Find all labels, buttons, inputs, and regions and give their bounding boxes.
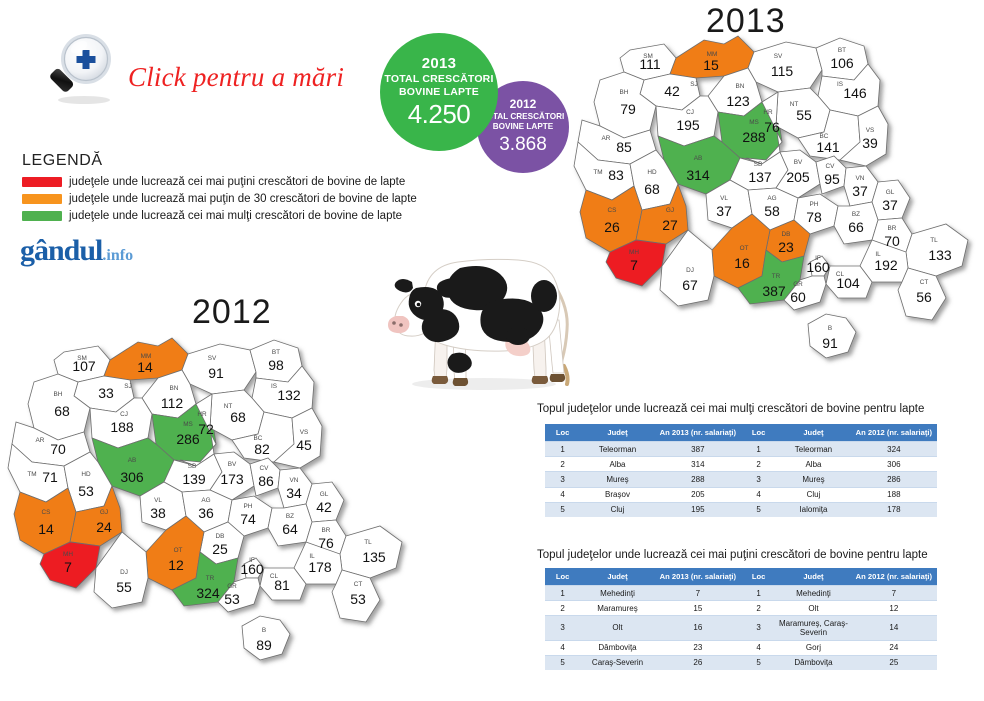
county-code-cj: CJ (686, 109, 694, 116)
cell-4-3: 5 (741, 502, 776, 517)
county-code-ab: AB (128, 457, 137, 464)
county-value-sm: 107 (72, 358, 96, 374)
county-code-cs: CS (608, 207, 617, 214)
county-code-sb: SB (188, 463, 197, 470)
county-value-ar: 85 (616, 139, 632, 155)
cell-4-2: 195 (655, 502, 741, 517)
logo-wordmark: gândul (20, 234, 102, 267)
county-code-tr: TR (772, 273, 781, 280)
county-value-if: 160 (240, 561, 264, 577)
col-header-1: Judeţ (580, 424, 654, 442)
county-code-cv: CV (260, 465, 270, 472)
county-value-vl: 38 (150, 505, 166, 521)
cell-2-4: Maramureş, Caraş-Severin (776, 616, 850, 640)
cell-3-1: Dâmboviţa (580, 640, 654, 655)
cell-3-5: 24 (851, 640, 937, 655)
legend-swatch-orange (22, 194, 62, 204)
cell-1-0: 2 (545, 457, 580, 472)
county-value-bn: 112 (161, 395, 184, 411)
cell-4-2: 26 (655, 655, 741, 670)
cell-0-5: 7 (851, 586, 937, 601)
county-code-bt: BT (838, 47, 846, 54)
col-header-0: Loc (545, 424, 580, 442)
county-code-bz: BZ (852, 211, 860, 218)
cell-1-3: 2 (741, 601, 776, 616)
cell-0-4: Mehedinţi (776, 586, 850, 601)
county-value-db: 23 (778, 239, 794, 255)
county-value-nt: 55 (796, 107, 812, 123)
county-code-vn: VN (290, 477, 299, 484)
county-code-br: BR (322, 527, 331, 534)
county-value-gr: 53 (224, 591, 240, 607)
county-value-is: 146 (843, 85, 867, 101)
total-bubble-2013: 2013 TOTAL CRESCĂTORI BOVINE LAPTE 4.250 (380, 33, 498, 151)
county-value-dj: 67 (682, 277, 698, 293)
county-value-mm: 15 (703, 57, 719, 73)
table-row: 1Teleorman3871Teleorman324 (545, 442, 937, 457)
legend-swatch-green (22, 211, 62, 221)
county-code-dj: DJ (686, 267, 694, 274)
bubble-2013-line2: BOVINE LAPTE (399, 86, 479, 99)
cell-4-3: 5 (741, 655, 776, 670)
county-value-gl: 37 (882, 197, 898, 213)
county-code-bh: BH (54, 391, 63, 398)
cell-2-1: Mureş (580, 472, 654, 487)
cell-2-2: 16 (655, 616, 741, 640)
county-value-cs: 26 (604, 219, 620, 235)
county-value-ot: 16 (734, 255, 750, 271)
legend-item-fewest: judeţele unde lucrează cei mai puţini cr… (22, 174, 442, 190)
logo-suffix: .info (102, 247, 133, 264)
county-value-b: 91 (822, 335, 838, 351)
county-code-tl: TL (364, 539, 372, 546)
col-header-3: Loc (741, 568, 776, 586)
table-row: 4Braşov2054Cluj188 (545, 487, 937, 502)
county-value-gl: 42 (316, 499, 332, 515)
county-value-bh: 79 (620, 101, 636, 117)
cell-3-0: 4 (545, 487, 580, 502)
cell-2-3: 3 (741, 472, 776, 487)
col-header-4: Judeţ (776, 568, 850, 586)
county-value-hr: 72 (198, 421, 214, 437)
cell-3-0: 4 (545, 640, 580, 655)
cell-1-1: Alba (580, 457, 654, 472)
table-header-row: LocJudeţAn 2013 (nr. salariaţi)LocJudeţA… (545, 568, 937, 586)
county-value-gj: 27 (662, 217, 678, 233)
county-value-gj: 24 (96, 519, 112, 535)
cell-0-2: 387 (655, 442, 741, 457)
bubble-2012-value: 3.868 (499, 134, 547, 156)
county-value-dj: 55 (116, 579, 132, 595)
county-code-ag: AG (201, 497, 210, 504)
county-value-mh: 7 (630, 257, 638, 273)
county-code-ms: MS (749, 119, 759, 126)
county-value-ph: 74 (240, 511, 256, 527)
cell-3-4: Cluj (776, 487, 850, 502)
cell-2-0: 3 (545, 472, 580, 487)
county-code-bv: BV (228, 461, 237, 468)
county-value-mh: 7 (64, 559, 72, 575)
magnifier-plus-icon[interactable] (44, 30, 120, 106)
table-header-row: LocJudeţAn 2013 (nr. salariaţi)LocJudeţA… (545, 424, 937, 442)
county-value-tm: 71 (42, 469, 58, 485)
table-row: 5Cluj1955Ialomiţa178 (545, 502, 937, 517)
county-code-gj: GJ (100, 509, 108, 516)
county-value-bz: 66 (848, 219, 864, 235)
county-code-ar: AR (36, 437, 45, 444)
county-value-ab: 314 (686, 167, 710, 183)
cell-1-1: Maramureş (580, 601, 654, 616)
cell-4-5: 178 (851, 502, 937, 517)
cell-2-5: 286 (851, 472, 937, 487)
county-code-ph: PH (810, 201, 819, 208)
bubble-2012-year: 2012 (510, 98, 537, 112)
county-value-b: 89 (256, 637, 272, 653)
county-code-hd: HD (647, 169, 657, 176)
county-code-sj: SJ (124, 383, 131, 390)
county-value-br: 70 (884, 233, 900, 249)
bubble-2012-line2: BOVINE LAPTE (493, 122, 554, 132)
county-value-ph: 78 (806, 209, 822, 225)
legend-swatch-red (22, 177, 62, 187)
county-code-b: B (828, 325, 832, 332)
table-row: 1Mehedinţi71Mehedinţi7 (545, 586, 937, 601)
county-code-tl: TL (930, 237, 938, 244)
county-code-sj: SJ (690, 81, 697, 88)
cell-2-0: 3 (545, 616, 580, 640)
county-code-b: B (262, 627, 266, 634)
county-code-ct: CT (354, 581, 363, 588)
legend-label-under30: judeţele unde lucrează mai puţin de 30 c… (69, 193, 417, 205)
table-row: 2Alba3142Alba306 (545, 457, 937, 472)
cell-0-1: Mehedinţi (580, 586, 654, 601)
county-code-ot: OT (174, 547, 183, 554)
county-code-cs: CS (42, 509, 51, 516)
county-value-sm: 111 (639, 56, 660, 72)
cell-0-3: 1 (741, 442, 776, 457)
cell-4-1: Cluj (580, 502, 654, 517)
county-code-bn: BN (170, 385, 179, 392)
table-row: 3Mureş2883Mureş286 (545, 472, 937, 487)
county-code-sv: SV (774, 53, 783, 60)
cell-4-5: 25 (851, 655, 937, 670)
county-value-cv: 86 (258, 473, 274, 489)
county-code-vs: VS (866, 127, 875, 134)
click-to-enlarge-text: Click pentru a mări (128, 62, 344, 93)
cell-3-3: 4 (741, 487, 776, 502)
table-title-fewest: Topul judeţelor unde lucrează cei mai pu… (537, 549, 928, 561)
bubble-2013-value: 4.250 (408, 100, 471, 129)
county-value-bt: 106 (830, 55, 854, 71)
county-code-mh: MH (63, 551, 73, 558)
county-code-vn: VN (856, 175, 865, 182)
county-value-tm: 83 (608, 167, 624, 183)
bubble-2013-line1: TOTAL CRESCĂTORI (384, 73, 493, 86)
col-header-2: An 2013 (nr. salariaţi) (655, 424, 741, 442)
romania-map-2012[interactable]: SM107MM14SV91BT98SJ33BN112IS132BH68CJ188… (6, 316, 418, 696)
county-code-cv: CV (826, 163, 836, 170)
cell-1-5: 306 (851, 457, 937, 472)
county-value-nt: 68 (230, 409, 246, 425)
county-value-ct: 56 (916, 289, 932, 305)
cell-0-2: 7 (655, 586, 741, 601)
county-code-is: IS (271, 383, 277, 390)
cell-3-4: Gorj (776, 640, 850, 655)
cell-4-4: Ialomiţa (776, 502, 850, 517)
cell-1-3: 2 (741, 457, 776, 472)
legend: LEGENDĂ judeţele unde lucrează cei mai p… (22, 152, 442, 225)
cell-3-5: 188 (851, 487, 937, 502)
county-value-tl: 133 (928, 247, 952, 263)
county-code-vl: VL (720, 195, 728, 202)
col-header-3: Loc (741, 424, 776, 442)
cell-1-4: Olt (776, 601, 850, 616)
county-value-tl: 135 (362, 549, 386, 565)
county-value-ms: 286 (176, 431, 200, 447)
county-value-bn: 123 (726, 93, 750, 109)
county-value-bv: 173 (220, 471, 244, 487)
county-value-bc: 82 (254, 441, 270, 457)
col-header-1: Judeţ (580, 568, 654, 586)
county-code-tm: TM (27, 471, 36, 478)
table-row: 2Maramureş152Olt12 (545, 601, 937, 616)
county-value-ag: 58 (764, 203, 780, 219)
county-code-gl: GL (886, 189, 895, 196)
table-row: 5Caraş-Severin265Dâmboviţa25 (545, 655, 937, 670)
gandul-logo[interactable]: gândul.info (20, 234, 133, 268)
county-value-cv: 95 (824, 171, 840, 187)
county-value-bh: 68 (54, 403, 70, 419)
cell-0-0: 1 (545, 442, 580, 457)
county-value-db: 25 (212, 541, 228, 557)
county-value-hr: 76 (764, 119, 780, 135)
county-code-tr: TR (206, 575, 215, 582)
table-row: 3Olt163Maramureş, Caraş-Severin14 (545, 616, 937, 640)
dairy-cow-image (372, 224, 590, 394)
county-value-ab: 306 (120, 469, 144, 485)
county-value-sj: 33 (98, 385, 114, 401)
county-code-ph: PH (244, 503, 253, 510)
table-fewest-breeders: LocJudeţAn 2013 (nr. salariaţi)LocJudeţA… (545, 568, 937, 670)
cell-4-0: 5 (545, 655, 580, 670)
county-code-ms: MS (183, 421, 193, 428)
cell-0-3: 1 (741, 586, 776, 601)
county-code-tm: TM (593, 169, 602, 176)
cell-3-2: 205 (655, 487, 741, 502)
county-value-sb: 137 (748, 169, 772, 185)
county-code-cj: CJ (120, 411, 128, 418)
county-value-vs: 45 (296, 437, 312, 453)
county-code-ot: OT (740, 245, 749, 252)
county-code-hr: HR (763, 109, 773, 116)
county-value-vs: 39 (862, 135, 878, 151)
county-value-bc: 141 (816, 139, 840, 155)
cell-4-0: 5 (545, 502, 580, 517)
county-value-ag: 36 (198, 505, 214, 521)
county-value-ot: 12 (168, 557, 184, 573)
county-code-sb: SB (754, 161, 763, 168)
county-value-sv: 91 (208, 365, 224, 381)
legend-label-most: judeţele unde lucrează cei mai mulţi cre… (69, 210, 402, 222)
county-code-sv: SV (208, 355, 217, 362)
col-header-0: Loc (545, 568, 580, 586)
county-code-ct: CT (920, 279, 929, 286)
cell-1-0: 2 (545, 601, 580, 616)
county-code-gj: GJ (666, 207, 674, 214)
bubble-2013-year: 2013 (422, 55, 457, 72)
county-code-dj: DJ (120, 569, 128, 576)
county-value-vl: 37 (716, 203, 732, 219)
county-value-cj: 188 (110, 419, 134, 435)
cell-2-4: Mureş (776, 472, 850, 487)
col-header-5: An 2012 (nr. salariaţi) (851, 424, 937, 442)
legend-item-most: judeţele unde lucrează cei mai mulţi cre… (22, 208, 442, 224)
county-value-sb: 139 (182, 471, 206, 487)
legend-title: LEGENDĂ (22, 152, 442, 170)
county-code-is: IS (837, 81, 843, 88)
cell-3-1: Braşov (580, 487, 654, 502)
county-value-mm: 14 (137, 359, 153, 375)
county-value-vn: 37 (852, 183, 868, 199)
county-code-db: DB (216, 533, 225, 540)
county-code-vl: VL (154, 497, 162, 504)
table-title-most: Topul judeţelor unde lucrează cei mai mu… (537, 403, 924, 415)
county-code-mh: MH (629, 249, 639, 256)
legend-label-fewest: judeţele unde lucrează cei mai puţini cr… (69, 176, 405, 188)
county-code-ar: AR (602, 135, 611, 142)
county-value-tr: 324 (196, 585, 220, 601)
county-code-hr: HR (197, 411, 207, 418)
county-value-ct: 53 (350, 591, 366, 607)
county-value-cl: 104 (836, 275, 860, 291)
cell-2-5: 14 (851, 616, 937, 640)
county-value-gr: 60 (790, 289, 806, 305)
county-value-hd: 53 (78, 483, 94, 499)
county-code-gr: GR (793, 281, 803, 288)
cell-1-5: 12 (851, 601, 937, 616)
county-value-sj: 42 (664, 83, 680, 99)
county-code-bn: BN (736, 83, 745, 90)
county-value-il: 178 (308, 559, 332, 575)
county-code-bt: BT (272, 349, 280, 356)
county-value-bv: 205 (786, 169, 810, 185)
county-value-cj: 195 (676, 117, 700, 133)
county-value-ar: 70 (50, 441, 66, 457)
cell-1-2: 15 (655, 601, 741, 616)
county-value-if: 160 (806, 259, 830, 275)
cell-1-2: 314 (655, 457, 741, 472)
county-value-il: 192 (874, 257, 898, 273)
county-value-sv: 115 (771, 63, 794, 79)
county-code-ab: AB (694, 155, 703, 162)
romania-map-2013[interactable]: SM111MM15SV115BT106SJ42BN123IS146BH79CJ1… (572, 14, 984, 394)
county-value-hd: 68 (644, 181, 660, 197)
cell-1-4: Alba (776, 457, 850, 472)
county-code-gr: GR (227, 583, 237, 590)
cell-4-4: Dâmboviţa (776, 655, 850, 670)
table-most-breeders: LocJudeţAn 2013 (nr. salariaţi)LocJudeţA… (545, 424, 937, 517)
cell-0-0: 1 (545, 586, 580, 601)
county-code-hd: HD (81, 471, 91, 478)
cell-3-3: 4 (741, 640, 776, 655)
bubble-2012-line1: TOTAL CRESCĂTORI (482, 112, 565, 122)
county-code-gl: GL (320, 491, 329, 498)
county-code-bz: BZ (286, 513, 294, 520)
county-value-cl: 81 (274, 577, 290, 593)
cell-2-3: 3 (741, 616, 776, 640)
county-value-ms: 288 (742, 129, 766, 145)
county-value-cs: 14 (38, 521, 54, 537)
county-value-bz: 64 (282, 521, 298, 537)
county-code-br: BR (888, 225, 897, 232)
county-code-bv: BV (794, 159, 803, 166)
county-code-db: DB (782, 231, 791, 238)
county-value-is: 132 (277, 387, 301, 403)
cell-3-2: 23 (655, 640, 741, 655)
cell-2-2: 288 (655, 472, 741, 487)
county-code-vs: VS (300, 429, 309, 436)
county-value-vn: 34 (286, 485, 302, 501)
legend-item-under30: judeţele unde lucrează mai puţin de 30 c… (22, 191, 442, 207)
cell-2-1: Olt (580, 616, 654, 640)
cell-0-1: Teleorman (580, 442, 654, 457)
col-header-4: Judeţ (776, 424, 850, 442)
cell-0-4: Teleorman (776, 442, 850, 457)
col-header-5: An 2012 (nr. salariaţi) (851, 568, 937, 586)
county-code-ag: AG (767, 195, 776, 202)
cell-4-1: Caraş-Severin (580, 655, 654, 670)
county-value-br: 76 (318, 535, 334, 551)
table-row: 4Dâmboviţa234Gorj24 (545, 640, 937, 655)
county-code-bh: BH (620, 89, 629, 96)
cell-0-5: 324 (851, 442, 937, 457)
county-value-bt: 98 (268, 357, 284, 373)
county-value-tr: 387 (762, 283, 786, 299)
col-header-2: An 2013 (nr. salariaţi) (655, 568, 741, 586)
